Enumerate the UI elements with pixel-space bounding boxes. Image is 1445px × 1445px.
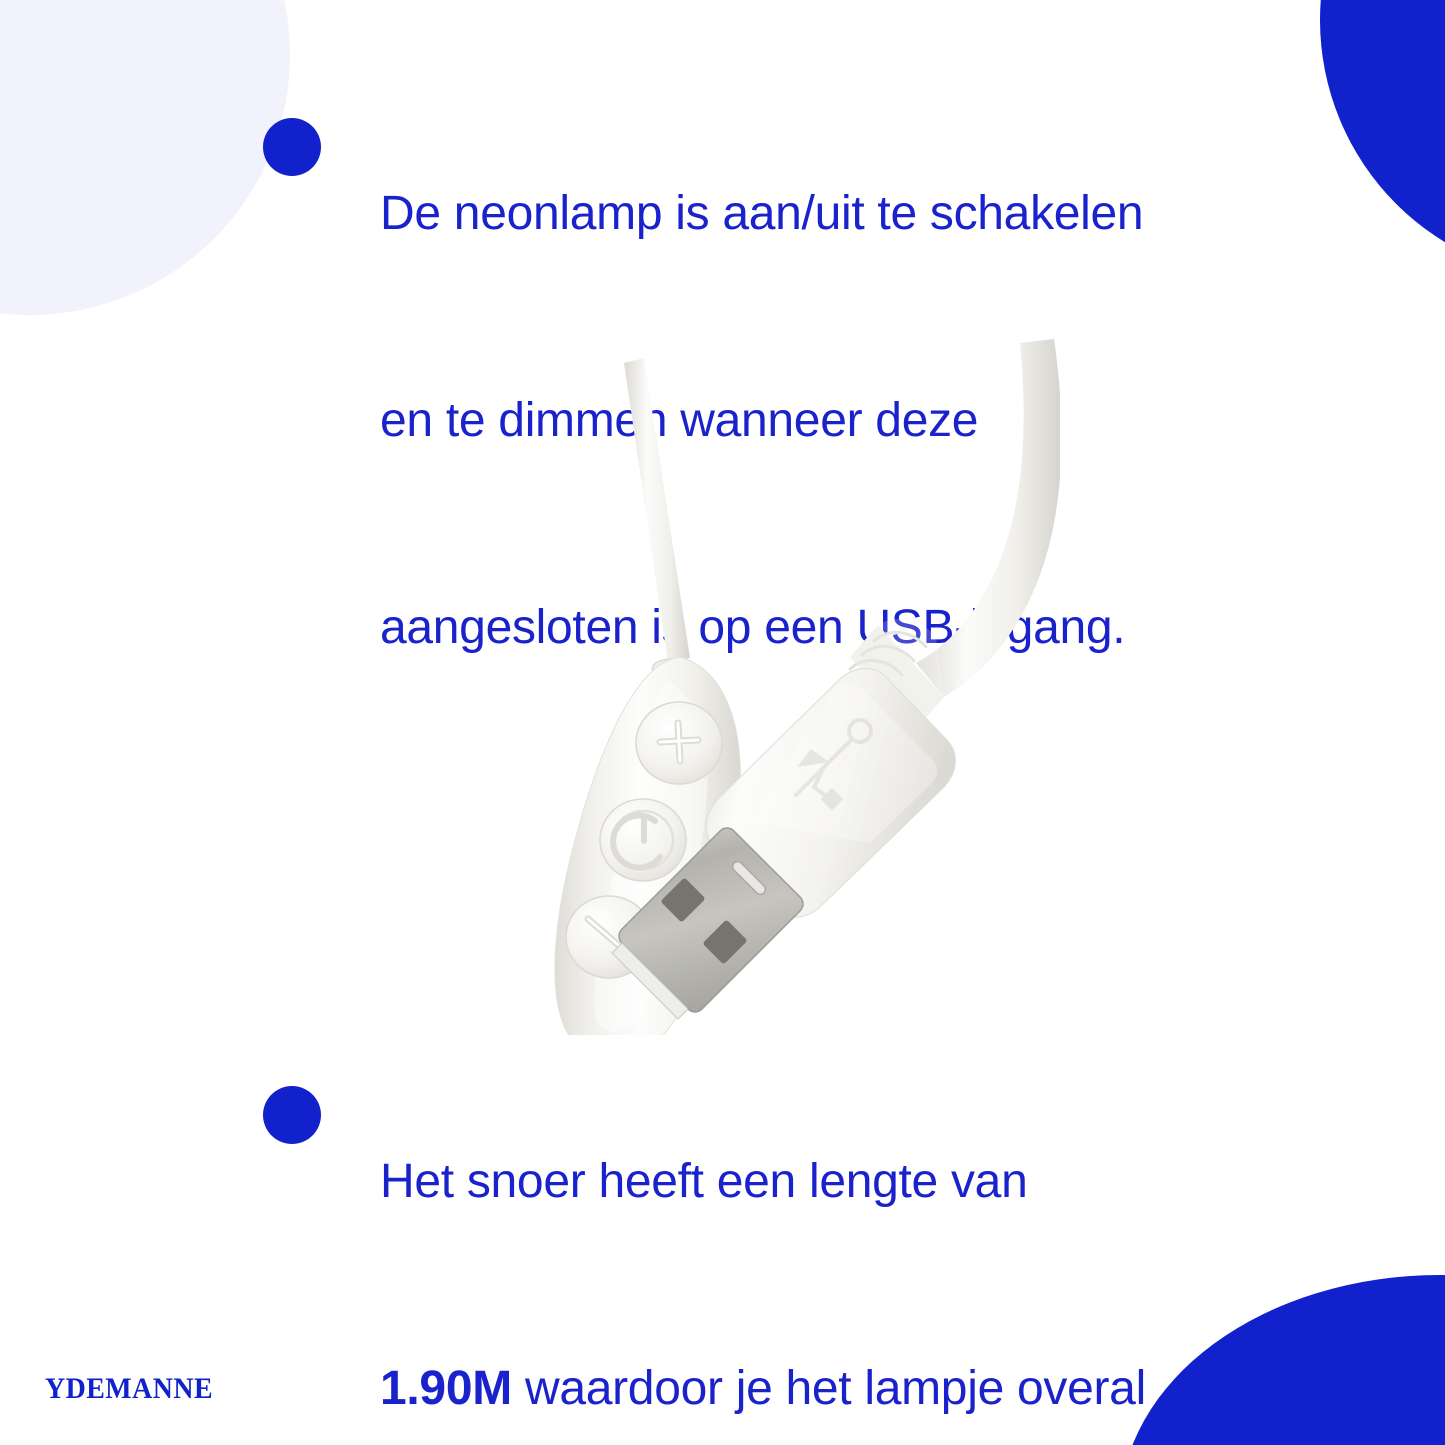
brightness-up-button[interactable] — [636, 702, 722, 784]
bullet-dot-icon — [263, 1086, 321, 1144]
cable-upper-right — [916, 339, 1060, 697]
feature-item-cable-length: Het snoer heeft een lengte van 1.90M waa… — [263, 1078, 1223, 1445]
brand-logo: YDEMANNE — [45, 1372, 213, 1406]
feature-line-1: De neonlamp is aan/uit te schakelen — [380, 187, 1143, 240]
decorative-blue-circle-top-right — [1320, 0, 1445, 280]
feature-line-2-rest: waardoor je het lampje overal — [512, 1362, 1146, 1415]
feature-line-1: Het snoer heeft een lengte van — [380, 1155, 1027, 1208]
power-button[interactable] — [600, 799, 686, 881]
product-image-usb-dimmer-cable: SI-W A — [330, 325, 1060, 1035]
infographic-canvas: De neonlamp is aan/uit te schakelen en t… — [0, 0, 1445, 1445]
cable-upper-left — [624, 358, 690, 663]
feature-text-cable-length: Het snoer heeft een lengte van 1.90M waa… — [380, 1078, 1146, 1445]
cable-length-value: 1.90M — [380, 1362, 512, 1415]
decorative-lavender-circle-top-left — [0, 0, 290, 315]
bullet-dot-icon — [263, 118, 321, 176]
